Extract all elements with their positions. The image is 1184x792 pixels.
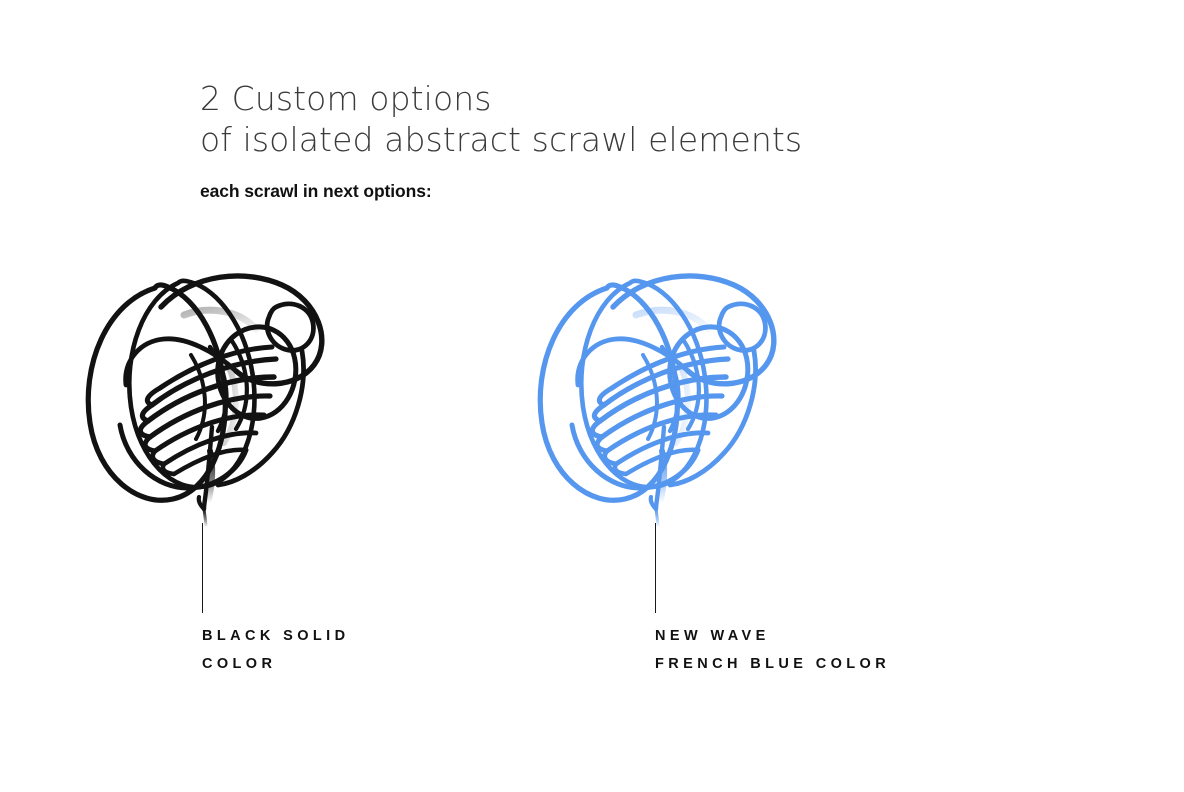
title-line-1: 2 Custom options — [200, 78, 960, 119]
caption-blue-line2: FRENCH BLUE COLOR — [655, 650, 890, 678]
connector-line-blue — [655, 523, 656, 613]
option-new-wave-french-blue — [512, 255, 812, 520]
connector-line-black — [202, 523, 203, 613]
caption-black-line2: COLOR — [202, 650, 349, 678]
poster-canvas: 2 Custom options of isolated abstract sc… — [0, 0, 1184, 792]
caption-black-line1: BLACK SOLID — [202, 622, 349, 650]
scrawl-svg-black — [60, 255, 360, 520]
caption-new-wave-french-blue: NEW WAVE FRENCH BLUE COLOR — [655, 622, 890, 678]
option-black-solid — [60, 255, 360, 520]
caption-black-solid: BLACK SOLID COLOR — [202, 622, 349, 678]
subtitle-text: each scrawl in next options: — [200, 180, 432, 202]
heading-block: 2 Custom options of isolated abstract sc… — [200, 78, 960, 160]
abstract-scrawl-black-artwork — [60, 255, 360, 520]
title-line-2: of isolated abstract scrawl elements — [200, 119, 960, 160]
scrawl-svg-blue — [512, 255, 812, 520]
abstract-scrawl-blue-artwork — [512, 255, 812, 520]
caption-blue-line1: NEW WAVE — [655, 622, 890, 650]
